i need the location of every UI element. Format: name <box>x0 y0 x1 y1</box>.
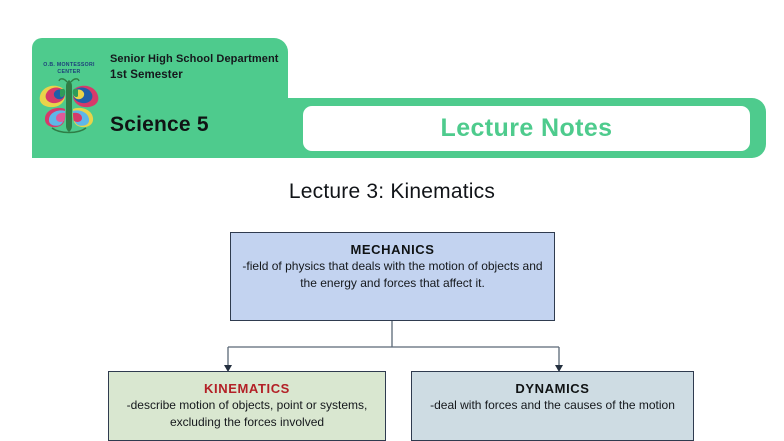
department-label: Senior High School Department <box>110 53 279 65</box>
lecture-notes-banner: Lecture Notes <box>303 106 750 151</box>
lecture-notes-label: Lecture Notes <box>441 114 613 143</box>
node-body-kinematics: -describe motion of objects, point or sy… <box>109 397 385 431</box>
node-body-mechanics: -field of physics that deals with the mo… <box>231 258 554 292</box>
flowchart-node-mechanics: MECHANICS -field of physics that deals w… <box>230 232 555 321</box>
node-body-dynamics: -deal with forces and the causes of the … <box>412 397 693 414</box>
school-logo-text: O.B. MONTESSORI CENTER <box>36 62 102 76</box>
flowchart-node-kinematics: KINEMATICS -describe motion of objects, … <box>108 371 386 441</box>
node-title-kinematics: KINEMATICS <box>109 380 385 397</box>
node-title-mechanics: MECHANICS <box>231 241 554 258</box>
school-logo: O.B. MONTESSORI CENTER <box>36 62 102 136</box>
semester-label: 1st Semester <box>110 69 183 81</box>
flowchart-node-dynamics: DYNAMICS -deal with forces and the cause… <box>411 371 694 441</box>
document-page: O.B. MONTESSORI CENTER <box>0 0 784 441</box>
butterfly-icon <box>36 76 102 136</box>
page-title: Lecture 3: Kinematics <box>0 180 784 204</box>
node-title-dynamics: DYNAMICS <box>412 380 693 397</box>
subject-title: Science 5 <box>110 113 209 137</box>
